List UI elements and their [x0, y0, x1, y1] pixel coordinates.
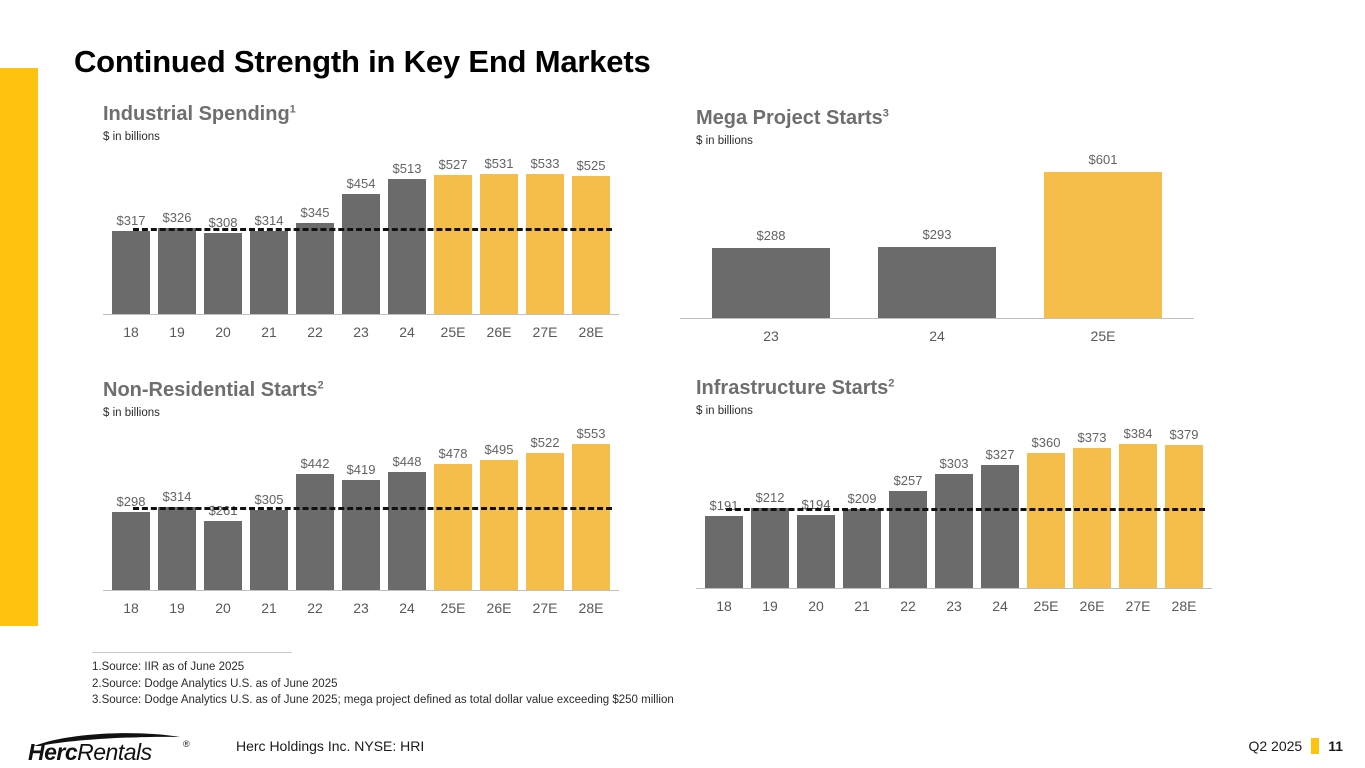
- x-axis-line: [103, 590, 619, 591]
- x-tick-label: 28E: [1155, 599, 1213, 613]
- footnote-ref: 2: [888, 377, 894, 389]
- bar-value-label: $327: [971, 448, 1029, 461]
- chart-title-industrial: Industrial Spending1: [103, 104, 633, 124]
- footnote-ref: 1: [290, 103, 296, 115]
- bar-value-label: $288: [702, 229, 840, 242]
- bar-26E: [1073, 448, 1111, 588]
- chart-title-mega: Mega Project Starts3: [696, 108, 1206, 128]
- reference-dashed-line: [726, 508, 1205, 511]
- bar-28E: [1165, 445, 1203, 588]
- bar-value-label: $209: [833, 492, 891, 505]
- plot-area-mega: $28823$29324$60125E: [680, 158, 1194, 318]
- bar-21: [250, 510, 288, 590]
- logo-herc: Herc: [28, 739, 77, 765]
- bar-25E: [1027, 453, 1065, 588]
- footer-right-group: Q2 2025 11: [1248, 738, 1343, 754]
- bar-21: [250, 231, 288, 314]
- chart-panel-infra: Infrastructure Starts2 $ in billions $19…: [696, 378, 1226, 628]
- chart-subtitle-nonres: $ in billions: [103, 408, 633, 420]
- plot-area-nonres: $29818$31419$26120$30521$44222$41923$448…: [103, 432, 619, 590]
- footnote-divider: [92, 652, 292, 653]
- bar-value-label: $379: [1155, 428, 1213, 441]
- bar-27E: [526, 453, 564, 590]
- chart-title-text: Mega Project Starts: [696, 107, 883, 129]
- footer-company-name: Herc Holdings Inc. NYSE: HRI: [236, 738, 424, 754]
- bar-24: [878, 247, 996, 318]
- reference-dashed-line: [133, 507, 612, 510]
- slide-canvas: Continued Strength in Key End Markets In…: [0, 0, 1365, 768]
- bar-28E: [572, 444, 610, 590]
- bar-19: [158, 228, 196, 314]
- x-tick-label: 25E: [1034, 329, 1172, 343]
- bar-28E: [572, 176, 610, 314]
- bar-20: [797, 515, 835, 588]
- bar-23: [712, 248, 830, 318]
- footnotes-block: 1.Source: IIR as of June 2025 2.Source: …: [92, 659, 674, 709]
- footer-quarter: Q2 2025: [1248, 738, 1302, 754]
- x-tick-label: 24: [868, 329, 1006, 343]
- bar-24: [388, 472, 426, 590]
- bar-22: [296, 474, 334, 590]
- bar-22: [889, 491, 927, 588]
- bar-27E: [1119, 444, 1157, 588]
- logo-registered-mark: ®: [183, 739, 190, 749]
- bar-24: [388, 179, 426, 314]
- x-axis-line: [696, 588, 1212, 589]
- bar-value-label: $345: [286, 206, 344, 219]
- bar-22: [296, 223, 334, 314]
- chart-subtitle-mega: $ in billions: [696, 136, 1206, 148]
- bar-18: [112, 512, 150, 590]
- bar-27E: [526, 174, 564, 314]
- bar-value-label: $525: [562, 159, 620, 172]
- chart-subtitle-industrial: $ in billions: [103, 132, 633, 144]
- bar-23: [935, 474, 973, 588]
- chart-panel-industrial: Industrial Spending1 $ in billions $3171…: [103, 104, 633, 354]
- x-axis-line: [103, 314, 619, 315]
- bar-18: [705, 516, 743, 588]
- footnote-3: 3.Source: Dodge Analytics U.S. as of Jun…: [92, 692, 674, 709]
- bar-value-label: $293: [868, 228, 1006, 241]
- bar-value-label: $454: [332, 177, 390, 190]
- bar-25E: [1044, 172, 1162, 318]
- logo-wordmark: HercRentals: [28, 739, 152, 766]
- bar-value-label: $257: [879, 474, 937, 487]
- footnote-2: 2.Source: Dodge Analytics U.S. as of Jun…: [92, 676, 674, 693]
- x-tick-label: 28E: [562, 325, 620, 339]
- bar-25E: [434, 175, 472, 314]
- bar-25E: [434, 464, 472, 590]
- x-tick-label: 23: [702, 329, 840, 343]
- page-number: 11: [1328, 738, 1343, 754]
- bar-value-label: $601: [1034, 153, 1172, 166]
- chart-title-text: Non-Residential Starts: [103, 379, 317, 401]
- bar-24: [981, 465, 1019, 588]
- chart-title-text: Infrastructure Starts: [696, 377, 888, 399]
- bar-19: [751, 508, 789, 588]
- bar-20: [204, 521, 242, 590]
- chart-title-text: Industrial Spending: [103, 103, 290, 125]
- plot-area-infra: $19118$21219$19420$20921$25722$30323$327…: [696, 430, 1212, 588]
- chart-subtitle-infra: $ in billions: [696, 406, 1226, 418]
- herc-rentals-logo: HercRentals ®: [28, 733, 198, 763]
- footnote-ref: 3: [883, 107, 889, 119]
- x-axis-line: [680, 318, 1194, 319]
- left-accent-bar: [0, 68, 38, 626]
- bar-21: [843, 509, 881, 588]
- page-chip-icon: [1311, 738, 1319, 754]
- bar-19: [158, 507, 196, 590]
- chart-panel-mega: Mega Project Starts3 $ in billions $2882…: [696, 108, 1206, 358]
- chart-title-nonres: Non-Residential Starts2: [103, 380, 633, 400]
- footnote-1: 1.Source: IIR as of June 2025: [92, 659, 674, 676]
- plot-area-industrial: $31718$32619$30820$31421$34522$45423$513…: [103, 156, 619, 314]
- bar-18: [112, 231, 150, 314]
- bar-value-label: $305: [240, 493, 298, 506]
- bar-26E: [480, 460, 518, 590]
- bar-23: [342, 194, 380, 314]
- reference-dashed-line: [133, 228, 612, 231]
- chart-panel-nonres: Non-Residential Starts2 $ in billions $2…: [103, 380, 633, 630]
- x-tick-label: 28E: [562, 601, 620, 615]
- chart-title-infra: Infrastructure Starts2: [696, 378, 1226, 398]
- page-title: Continued Strength in Key End Markets: [74, 44, 650, 80]
- bar-value-label: $314: [148, 490, 206, 503]
- bar-26E: [480, 174, 518, 314]
- bar-20: [204, 233, 242, 314]
- bar-23: [342, 480, 380, 590]
- footnote-ref: 2: [317, 379, 323, 391]
- bar-value-label: $553: [562, 427, 620, 440]
- logo-rentals: Rentals: [77, 739, 151, 765]
